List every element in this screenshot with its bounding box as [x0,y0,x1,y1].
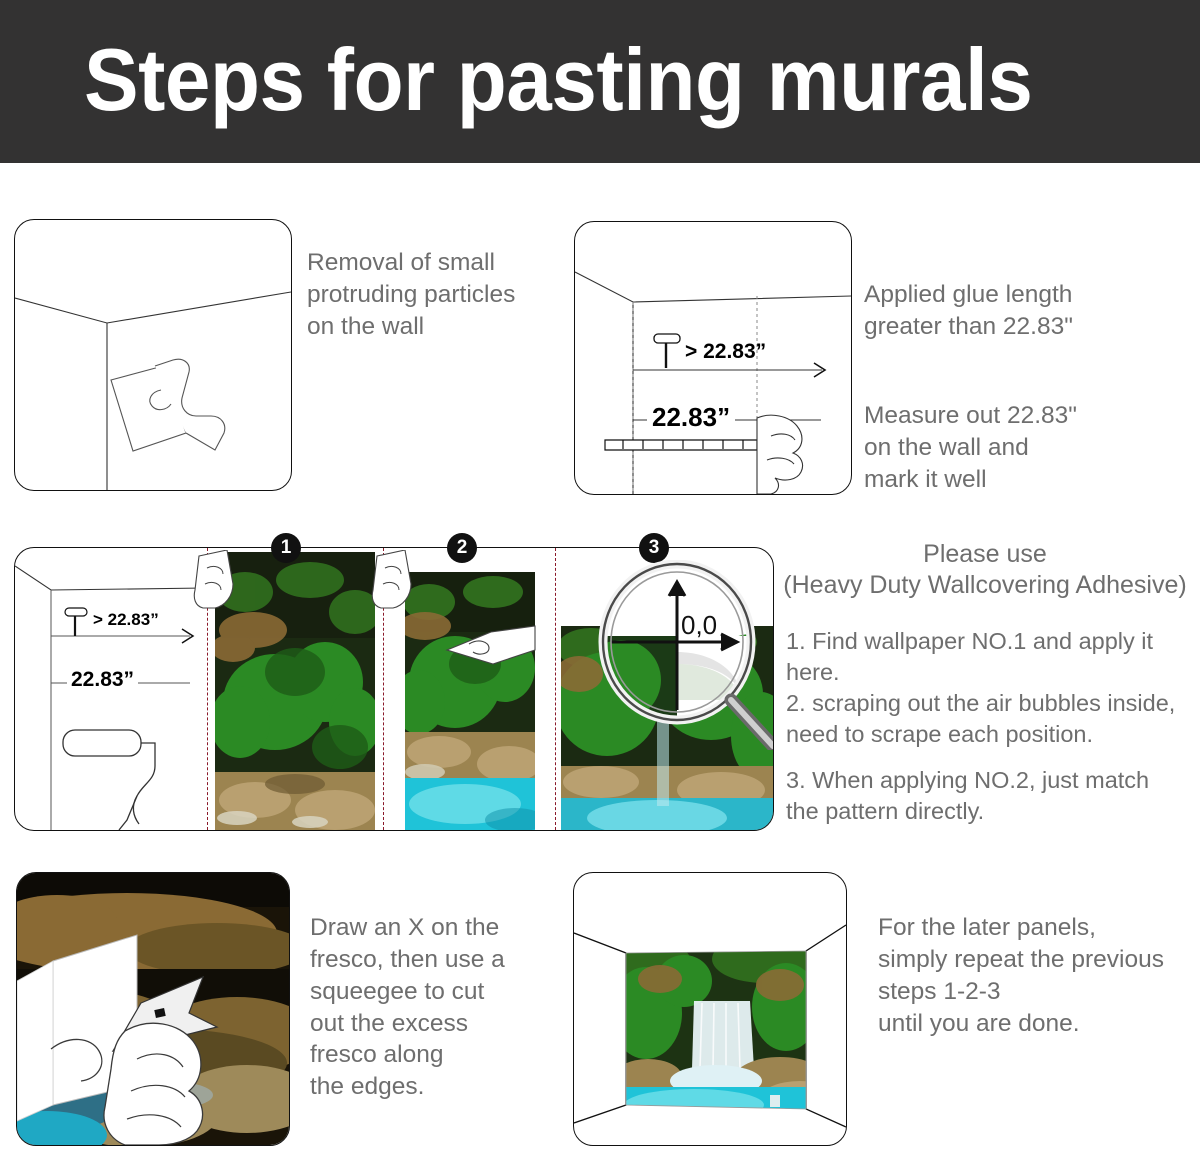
hand-icon [371,550,413,640]
hand-icon [17,873,289,1145]
glue-length-label: > 22.83” [93,610,159,630]
glue-brush-icon [65,608,87,636]
wall-measure-label: 22.83” [647,402,735,433]
adhesive-heading-line-2: (Heavy Duty Wallcovering Adhesive) [782,571,1188,600]
step-4-panel [16,872,290,1146]
mural-strip-2 [405,572,535,830]
glue-brush-icon [654,334,680,368]
hand-icon [193,550,235,640]
finished-mural-icon [574,873,846,1145]
glue-length-label: > 22.83” [685,340,766,364]
step-1-caption: Removal of small protruding particles on… [307,247,567,343]
step-1-panel [14,219,292,491]
step-3-panel: > 22.83” 22.83” [14,547,774,831]
step-3-instruction-2: 2. scraping out the air bubbles inside, … [786,688,1186,749]
step-2-caption-a: Applied glue length greater than 22.83" [864,279,1154,343]
step-4-caption: Draw an X on the fresco, then use a sque… [310,912,570,1103]
alignment-guide-3 [555,548,556,830]
hand-icon [757,415,803,494]
step-3-instruction-3: 3. When applying NO.2, just match the pa… [786,765,1186,826]
wall-measure-label: 22.83” [67,668,138,692]
paint-roller-icon [63,730,155,830]
scraper-icon [15,220,291,490]
step-2-panel: > 22.83” 22.83” [574,221,852,495]
step-5-panel [573,872,847,1146]
origin-label: 0,0 [681,610,717,641]
mural-strip-1 [215,552,375,830]
badge-2: 2 [447,533,477,563]
magnifier-icon [591,560,774,750]
step-2-caption-b: Measure out 22.83" on the wall and mark … [864,400,1164,496]
badge-1: 1 [271,533,301,563]
squeegee-icon [445,620,537,684]
badge-3: 3 [639,533,669,563]
step-5-caption: For the later panels, simply repeat the … [878,912,1198,1039]
adhesive-heading-line-1: Please use [790,540,1180,569]
page-title: Steps for pasting murals [84,34,1070,126]
step-3-instruction-1: 1. Find wallpaper NO.1 and apply it here… [786,626,1186,687]
page-header: Steps for pasting murals [0,0,1200,163]
